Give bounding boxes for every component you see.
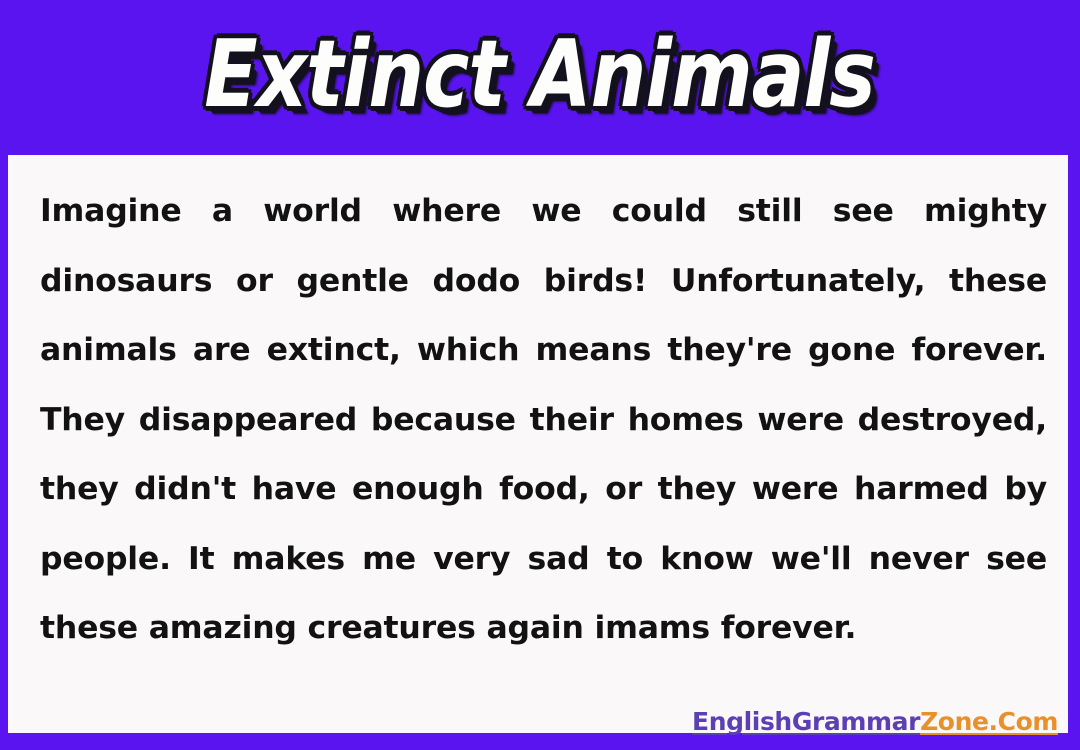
brand-name-accent: Zone.Com [920, 707, 1058, 736]
article-paragraph: Imagine a world where we could still see… [40, 177, 1047, 664]
content-card: Imagine a world where we could still see… [8, 155, 1068, 733]
brand-name-primary: EnglishGrammar [692, 707, 920, 736]
title-banner: Extinct Animals [0, 0, 1080, 155]
poster-canvas: Extinct Animals Imagine a world where we… [0, 0, 1080, 750]
site-brand[interactable]: EnglishGrammarZone.Com [692, 709, 1058, 734]
page-title: Extinct Animals [205, 27, 876, 127]
